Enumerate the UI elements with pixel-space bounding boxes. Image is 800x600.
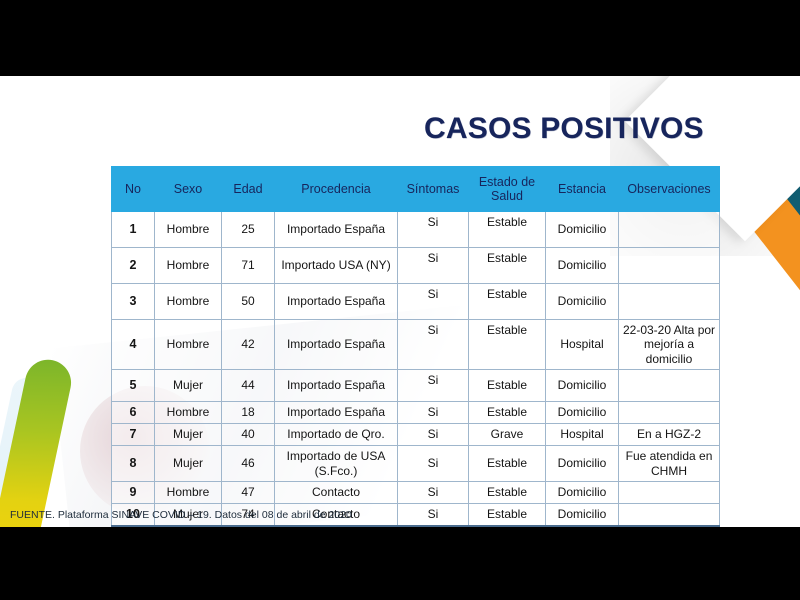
cell-estado-salud: Estable	[469, 370, 546, 402]
table-row: 1 Hombre 25 Importado España Si Estable …	[112, 212, 720, 248]
cell-sexo: Hombre	[155, 481, 222, 503]
cell-no: 9	[112, 481, 155, 503]
cell-no: 4	[112, 320, 155, 370]
cell-estancia: Domicilio	[546, 402, 619, 424]
cell-procedencia: Importado España	[275, 370, 398, 402]
cell-sexo: Hombre	[155, 284, 222, 320]
table-row: 2 Hombre 71 Importado USA (NY) Si Establ…	[112, 248, 720, 284]
positive-cases-table: No Sexo Edad Procedencia Síntomas Estado…	[111, 166, 720, 527]
cell-no: 2	[112, 248, 155, 284]
cell-edad: 18	[222, 402, 275, 424]
cell-estancia: Domicilio	[546, 503, 619, 526]
cell-no: 6	[112, 402, 155, 424]
cell-sintomas: Si	[398, 402, 469, 424]
cell-estado-salud: Estable	[469, 402, 546, 424]
table-row: 5 Mujer 44 Importado España Si Estable D…	[112, 370, 720, 402]
cell-edad: 44	[222, 370, 275, 402]
column-header-sexo: Sexo	[155, 167, 222, 212]
column-header-observaciones: Observaciones	[619, 167, 720, 212]
table-row: 3 Hombre 50 Importado España Si Estable …	[112, 284, 720, 320]
cell-sintomas: Si	[398, 370, 469, 402]
column-header-edad: Edad	[222, 167, 275, 212]
slide-title: CASOS POSITIVOS	[424, 112, 704, 146]
cell-estancia: Domicilio	[546, 370, 619, 402]
cell-procedencia: Contacto	[275, 481, 398, 503]
cell-edad: 42	[222, 320, 275, 370]
source-note: FUENTE. Plataforma SINAVE COVID – 19. Da…	[10, 509, 352, 521]
cell-observaciones	[619, 481, 720, 503]
cell-estado-salud: Estable	[469, 248, 546, 284]
cell-estancia: Domicilio	[546, 248, 619, 284]
letterbox-bottom-bar	[0, 527, 800, 600]
column-header-procedencia: Procedencia	[275, 167, 398, 212]
cell-estancia: Hospital	[546, 424, 619, 446]
cell-estado-salud: Estable	[469, 481, 546, 503]
cell-procedencia: Importado de USA (S.Fco.)	[275, 446, 398, 482]
cell-edad: 47	[222, 481, 275, 503]
cell-sexo: Hombre	[155, 320, 222, 370]
cell-estado-salud: Estable	[469, 284, 546, 320]
cell-edad: 71	[222, 248, 275, 284]
table-row: 6 Hombre 18 Importado España Si Estable …	[112, 402, 720, 424]
cell-procedencia: Importado España	[275, 284, 398, 320]
cell-estancia: Domicilio	[546, 481, 619, 503]
cell-sintomas: Si	[398, 424, 469, 446]
cell-estado-salud: Estable	[469, 212, 546, 248]
table-body: 1 Hombre 25 Importado España Si Estable …	[112, 212, 720, 526]
table-header: No Sexo Edad Procedencia Síntomas Estado…	[112, 167, 720, 212]
cell-sexo: Mujer	[155, 446, 222, 482]
cell-edad: 40	[222, 424, 275, 446]
decorative-green-yellow-bar	[0, 356, 75, 527]
cell-estado-salud: Estable	[469, 320, 546, 370]
cell-edad: 46	[222, 446, 275, 482]
cell-sexo: Mujer	[155, 424, 222, 446]
cell-no: 1	[112, 212, 155, 248]
cell-observaciones	[619, 370, 720, 402]
cell-procedencia: Importado USA (NY)	[275, 248, 398, 284]
cell-sintomas: Si	[398, 446, 469, 482]
cell-observaciones	[619, 248, 720, 284]
slide-viewer: CASOS POSITIVOS No Sexo Edad Procedencia…	[0, 0, 800, 600]
cell-no: 8	[112, 446, 155, 482]
cell-estancia: Domicilio	[546, 446, 619, 482]
table-row: 7 Mujer 40 Importado de Qro. Si Grave Ho…	[112, 424, 720, 446]
column-header-sintomas: Síntomas	[398, 167, 469, 212]
cell-estado-salud: Estable	[469, 503, 546, 526]
cell-observaciones: 22-03-20 Alta por mejoría a domicilio	[619, 320, 720, 370]
cell-estancia: Hospital	[546, 320, 619, 370]
cell-sintomas: Si	[398, 320, 469, 370]
cases-table-container: No Sexo Edad Procedencia Síntomas Estado…	[111, 166, 679, 527]
cell-sintomas: Si	[398, 212, 469, 248]
cell-observaciones	[619, 284, 720, 320]
column-header-estancia: Estancia	[546, 167, 619, 212]
presentation-slide: CASOS POSITIVOS No Sexo Edad Procedencia…	[0, 76, 800, 527]
cell-observaciones	[619, 402, 720, 424]
cell-observaciones	[619, 503, 720, 526]
cell-estado-salud: Estable	[469, 446, 546, 482]
table-row: 4 Hombre 42 Importado España Si Estable …	[112, 320, 720, 370]
cell-sintomas: Si	[398, 503, 469, 526]
cell-estancia: Domicilio	[546, 284, 619, 320]
table-row: 9 Hombre 47 Contacto Si Estable Domicili…	[112, 481, 720, 503]
cell-observaciones: Fue atendida en CHMH	[619, 446, 720, 482]
cell-estado-salud: Grave	[469, 424, 546, 446]
cell-procedencia: Importado de Qro.	[275, 424, 398, 446]
cell-no: 5	[112, 370, 155, 402]
column-header-estado-salud: Estado de Salud	[469, 167, 546, 212]
cell-sintomas: Si	[398, 481, 469, 503]
cell-sintomas: Si	[398, 248, 469, 284]
cell-edad: 50	[222, 284, 275, 320]
cell-sexo: Hombre	[155, 248, 222, 284]
cell-sexo: Hombre	[155, 212, 222, 248]
cell-observaciones: En a HGZ-2	[619, 424, 720, 446]
cell-no: 3	[112, 284, 155, 320]
cell-sexo: Hombre	[155, 402, 222, 424]
cell-sintomas: Si	[398, 284, 469, 320]
table-row: 8 Mujer 46 Importado de USA (S.Fco.) Si …	[112, 446, 720, 482]
cell-sexo: Mujer	[155, 370, 222, 402]
table-header-row: No Sexo Edad Procedencia Síntomas Estado…	[112, 167, 720, 212]
column-header-no: No	[112, 167, 155, 212]
cell-observaciones	[619, 212, 720, 248]
cell-no: 7	[112, 424, 155, 446]
cell-procedencia: Importado España	[275, 212, 398, 248]
letterbox-top-bar	[0, 0, 800, 76]
cell-procedencia: Importado España	[275, 320, 398, 370]
cell-estancia: Domicilio	[546, 212, 619, 248]
cell-edad: 25	[222, 212, 275, 248]
cell-procedencia: Importado España	[275, 402, 398, 424]
